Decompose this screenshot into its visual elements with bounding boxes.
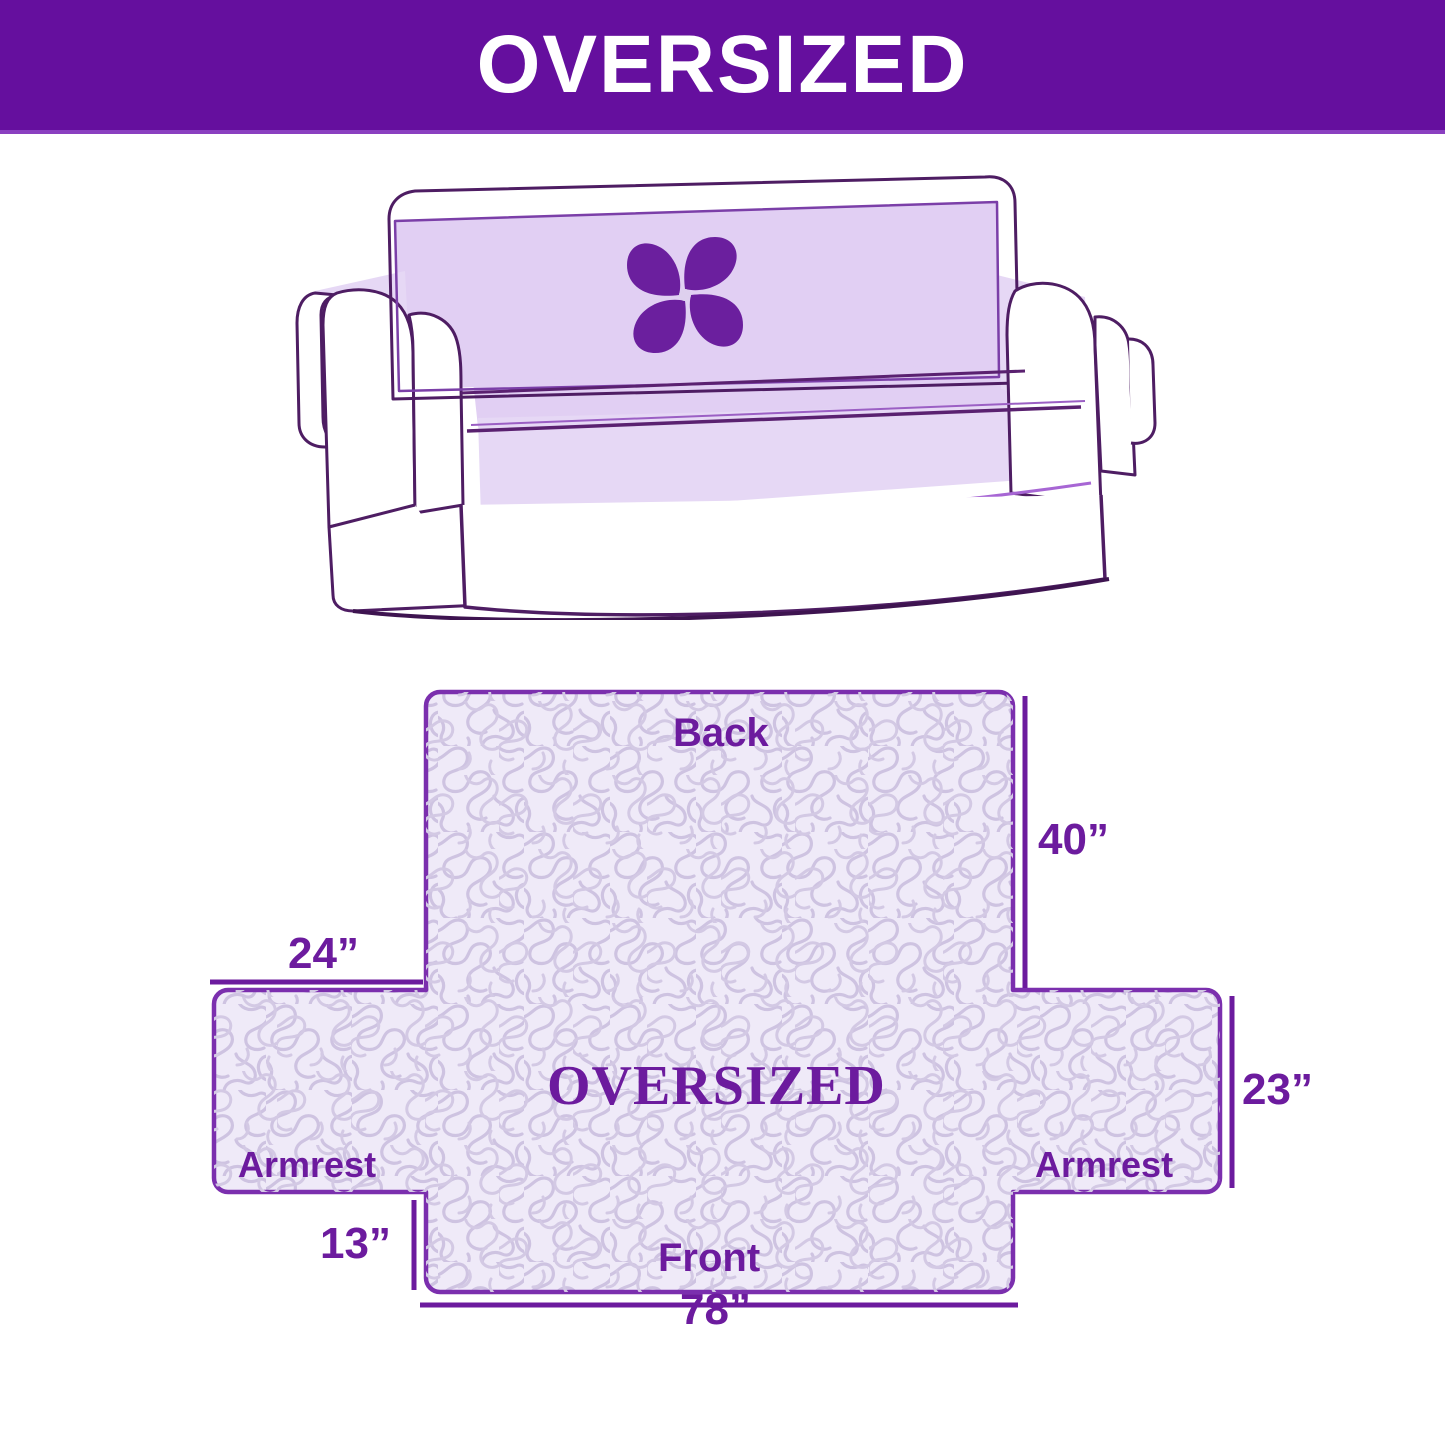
page-title: OVERSIZED (477, 24, 969, 106)
dimension-label-total-width: 78” (680, 1288, 751, 1332)
panel-label-armrest-right: Armrest (1035, 1147, 1173, 1183)
dimension-label-armrest-height: 23” (1242, 1068, 1313, 1112)
panel-label-back: Back (673, 713, 769, 753)
header-banner: OVERSIZED (0, 0, 1445, 134)
sofa-illustration (285, 175, 1185, 620)
panel-label-armrest-left: Armrest (238, 1147, 376, 1183)
dimension-label-front-skirt-height: 13” (320, 1222, 391, 1266)
flat-pattern-diagram: Back Front Armrest Armrest OVERSIZED 40”… (180, 660, 1360, 1360)
pattern-center-label: OVERSIZED (547, 1058, 886, 1114)
product-dimension-diagram: OVERSIZED (0, 0, 1445, 1445)
panel-label-front: Front (658, 1238, 760, 1278)
dimension-label-back-height: 40” (1038, 818, 1109, 862)
dimension-label-back-offset-width: 24” (288, 932, 359, 976)
